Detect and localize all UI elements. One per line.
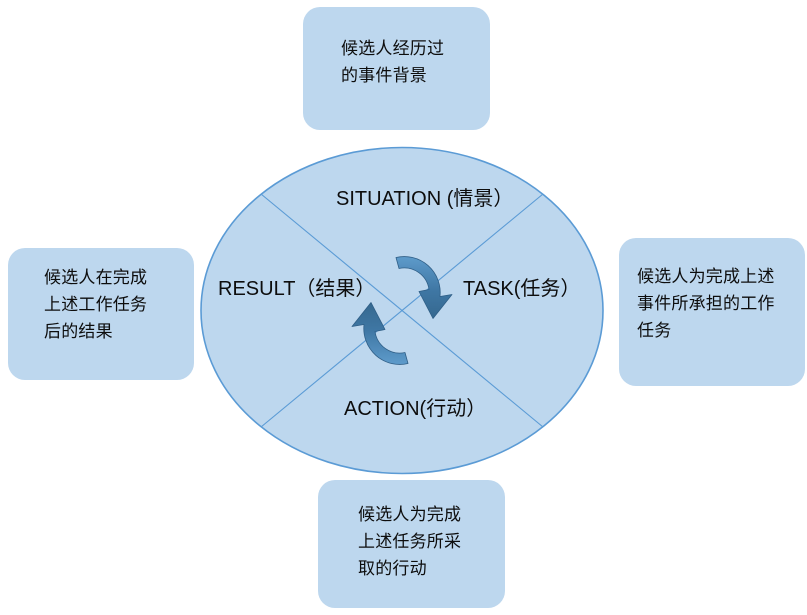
callout-text-result: 候选人在完成上述工作任务后的结果: [44, 264, 164, 345]
callout-box-task[interactable]: 候选人为完成上述事件所承担的工作任务: [619, 238, 805, 386]
callout-text-action: 候选人为完成上述任务所采取的行动: [358, 501, 474, 582]
callout-box-action[interactable]: 候选人为完成上述任务所采取的行动: [318, 480, 505, 608]
callout-text-task: 候选人为完成上述事件所承担的工作任务: [637, 263, 789, 344]
wheel-label-task: TASK(任务）: [463, 277, 580, 301]
callout-box-result[interactable]: 候选人在完成上述工作任务后的结果: [8, 248, 194, 380]
callout-text-situation: 候选人经历过的事件背景: [341, 35, 461, 89]
wheel-label-action: ACTION(行动）: [344, 397, 486, 421]
callout-box-situation[interactable]: 候选人经历过的事件背景: [303, 7, 490, 130]
wheel-label-result: RESULT（结果）: [218, 277, 375, 301]
wheel-label-situation: SITUATION (情景）: [336, 187, 513, 211]
diagram-canvas: 候选人经历过的事件背景 候选人在完成上述工作任务后的结果 候选人为完成上述事件所…: [0, 0, 807, 615]
